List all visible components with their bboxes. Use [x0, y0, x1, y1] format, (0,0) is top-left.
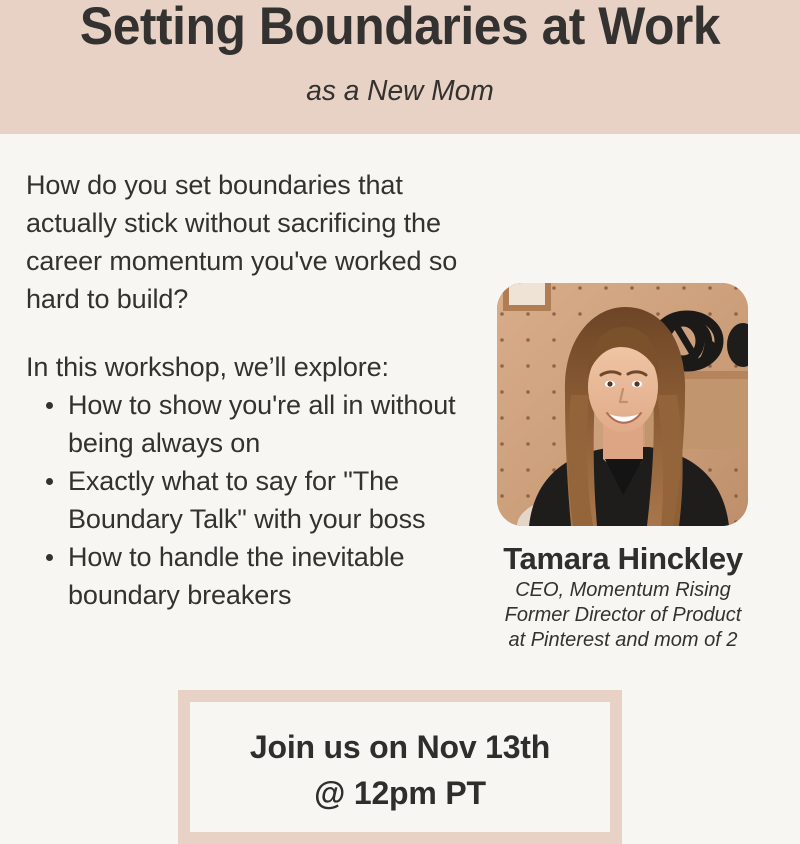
speaker-credential-line: CEO, Momentum Rising	[478, 578, 768, 603]
workshop-description: How do you set boundaries that actually …	[26, 166, 474, 614]
agenda-list: How to show you're all in without being …	[26, 386, 474, 614]
list-item: How to handle the inevitable boundary br…	[26, 538, 474, 614]
speaker-info: Tamara Hinckley CEO, Momentum Rising For…	[478, 540, 768, 653]
page-subtitle: as a New Mom	[12, 74, 788, 108]
intro-paragraph: How do you set boundaries that actually …	[26, 166, 474, 318]
speaker-name: Tamara Hinckley	[478, 540, 768, 578]
page-title: Setting Boundaries at Work	[24, 0, 776, 58]
event-date: Join us on Nov 13th	[190, 702, 610, 770]
speaker-credential-line: Former Director of Product	[478, 603, 768, 628]
event-details-box: Join us on Nov 13th @ 12pm PT	[178, 690, 622, 844]
speaker-portrait-image	[497, 283, 748, 526]
list-item: How to show you're all in without being …	[26, 386, 474, 462]
agenda-lead-in: In this workshop, we’ll explore:	[26, 318, 474, 386]
speaker-credential-line: at Pinterest and mom of 2	[478, 628, 768, 653]
event-time: @ 12pm PT	[190, 770, 610, 816]
header-banner: Setting Boundaries at Work as a New Mom	[0, 0, 800, 134]
list-item: Exactly what to say for "The Boundary Ta…	[26, 462, 474, 538]
speaker-photo	[497, 283, 748, 526]
